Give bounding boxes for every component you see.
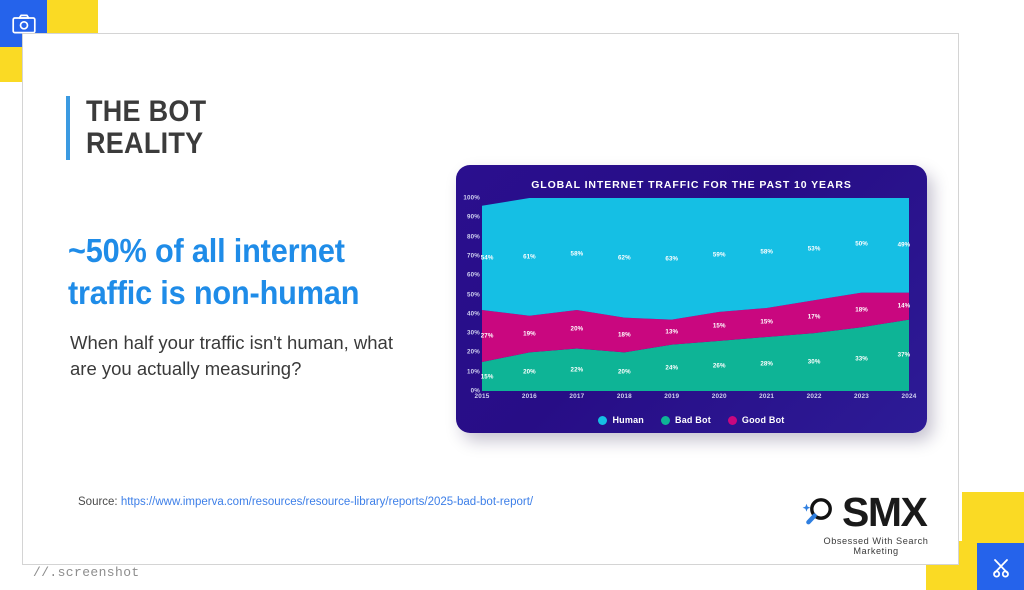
data-label: 53% <box>808 246 821 253</box>
x-axis-tick: 2016 <box>522 393 537 400</box>
slide-kicker: THE BOT REALITY <box>66 96 220 160</box>
chart-y-axis: 0%10%20%30%40%50%60%70%80%90%100% <box>456 198 480 391</box>
data-label: 61% <box>523 253 536 260</box>
data-label: 59% <box>713 251 726 258</box>
data-label: 30% <box>808 359 821 366</box>
x-axis-tick: 2017 <box>569 393 584 400</box>
chart-plot-area: 0%10%20%30%40%50%60%70%80%90%100% 15%20%… <box>482 198 909 391</box>
magnifying-glass-icon <box>800 493 840 533</box>
legend-label: Good Bot <box>742 415 785 425</box>
scissors-badge[interactable] <box>977 543 1024 590</box>
page-title: ~50% of all internet traffic is non-huma… <box>68 230 389 314</box>
smx-wordmark: SMX <box>842 492 926 533</box>
chart-legend: HumanBad BotGood Bot <box>456 415 927 425</box>
legend-label: Human <box>612 415 644 425</box>
y-axis-tick: 60% <box>456 272 480 279</box>
x-axis-tick: 2022 <box>807 393 822 400</box>
legend-item-good-bot[interactable]: Good Bot <box>728 415 785 425</box>
camera-icon <box>12 14 36 34</box>
data-label: 49% <box>898 242 911 249</box>
y-axis-tick: 50% <box>456 291 480 298</box>
data-label: 28% <box>760 360 773 367</box>
kicker-line-1: THE BOT <box>86 96 206 128</box>
data-label: 13% <box>665 329 678 336</box>
data-label: 15% <box>713 323 726 330</box>
data-label: 14% <box>898 303 911 310</box>
screenshot-caption: //.screenshot <box>33 565 140 580</box>
legend-label: Bad Bot <box>675 415 711 425</box>
chart-x-axis: 2015201620172018201920202021202220232024 <box>482 393 909 405</box>
x-axis-tick: 2019 <box>664 393 679 400</box>
data-label: 20% <box>571 326 584 333</box>
y-axis-tick: 10% <box>456 368 480 375</box>
data-label: 50% <box>855 241 868 248</box>
legend-swatch-icon <box>598 416 607 425</box>
scissors-icon <box>989 555 1013 579</box>
chart-areas: 15%20%22%20%24%26%28%30%33%37%27%19%20%1… <box>482 198 909 391</box>
data-label: 18% <box>618 332 631 339</box>
data-label: 19% <box>523 331 536 338</box>
x-axis-tick: 2024 <box>901 393 916 400</box>
data-label: 63% <box>665 255 678 262</box>
y-axis-tick: 20% <box>456 349 480 356</box>
source-line: Source: https://www.imperva.com/resource… <box>78 496 533 508</box>
source-label: Source: <box>78 496 118 508</box>
y-axis-tick: 40% <box>456 310 480 317</box>
legend-swatch-icon <box>661 416 670 425</box>
slide-subtext: When half your traffic isn't human, what… <box>70 330 400 383</box>
data-label: 26% <box>713 362 726 369</box>
data-label: 20% <box>523 368 536 375</box>
y-axis-tick: 80% <box>456 233 480 240</box>
legend-item-bad-bot[interactable]: Bad Bot <box>661 415 711 425</box>
data-label: 62% <box>618 254 631 261</box>
y-axis-tick: 30% <box>456 330 480 337</box>
smx-logo: SMX Obsessed With Search Marketing <box>800 492 952 556</box>
data-label: 37% <box>898 352 911 359</box>
data-label: 58% <box>760 249 773 256</box>
x-axis-tick: 2023 <box>854 393 869 400</box>
legend-swatch-icon <box>728 416 737 425</box>
smx-tagline: Obsessed With Search Marketing <box>800 536 952 556</box>
x-axis-tick: 2021 <box>759 393 774 400</box>
data-label: 20% <box>618 368 631 375</box>
data-label: 58% <box>571 250 584 257</box>
chart-card: GLOBAL INTERNET TRAFFIC FOR THE PAST 10 … <box>456 165 927 433</box>
data-label: 15% <box>760 319 773 326</box>
data-label: 15% <box>481 373 494 380</box>
data-label: 17% <box>808 313 821 320</box>
source-link[interactable]: https://www.imperva.com/resources/resour… <box>121 496 533 508</box>
data-label: 27% <box>481 332 494 339</box>
y-axis-tick: 70% <box>456 252 480 259</box>
data-label: 33% <box>855 356 868 363</box>
y-axis-tick: 90% <box>456 214 480 221</box>
x-axis-tick: 2015 <box>474 393 489 400</box>
x-axis-tick: 2018 <box>617 393 632 400</box>
x-axis-tick: 2020 <box>712 393 727 400</box>
data-label: 54% <box>481 254 494 261</box>
chart-title: GLOBAL INTERNET TRAFFIC FOR THE PAST 10 … <box>456 179 927 191</box>
data-label: 22% <box>571 366 584 373</box>
y-axis-tick: 100% <box>456 195 480 202</box>
data-label: 18% <box>855 306 868 313</box>
kicker-line-2: REALITY <box>86 128 206 160</box>
legend-item-human[interactable]: Human <box>598 415 644 425</box>
data-label: 24% <box>665 364 678 371</box>
